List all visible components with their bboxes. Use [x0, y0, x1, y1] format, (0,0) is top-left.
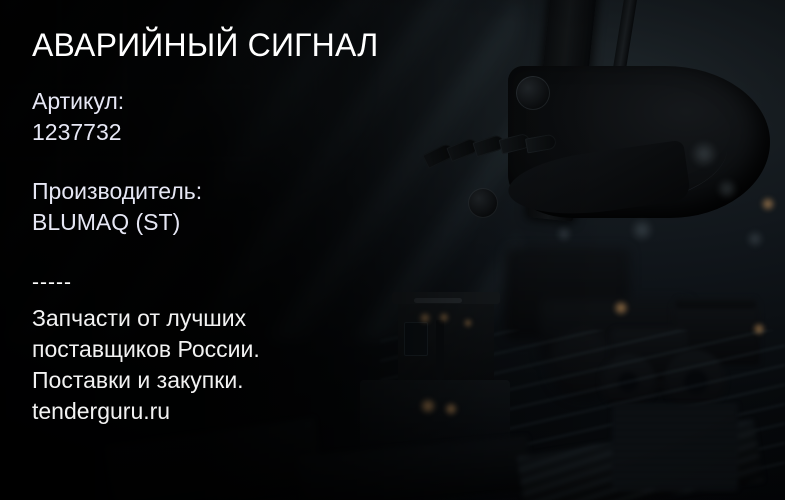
field-article-label: Артикул: [32, 86, 124, 117]
separator-dashes: ----- [32, 272, 72, 294]
field-manufacturer-label: Производитель: [32, 176, 202, 207]
promo-line-2: поставщиков России. [32, 334, 260, 365]
field-manufacturer-value: BLUMAQ (ST) [32, 207, 202, 238]
field-article-value: 1237732 [32, 117, 124, 148]
promo-blurb: Запчасти от лучших поставщиков России. П… [32, 303, 260, 427]
page-title: АВАРИЙНЫЙ СИГНАЛ [32, 26, 378, 64]
promo-line-3: Поставки и закупки. [32, 365, 260, 396]
promo-site-url: tenderguru.ru [32, 396, 260, 427]
field-article: Артикул: 1237732 [32, 86, 124, 148]
promo-line-1: Запчасти от лучших [32, 303, 260, 334]
product-banner: АВАРИЙНЫЙ СИГНАЛ Артикул: 1237732 Произв… [0, 0, 785, 500]
banner-content: АВАРИЙНЫЙ СИГНАЛ Артикул: 1237732 Произв… [32, 0, 462, 500]
field-manufacturer: Производитель: BLUMAQ (ST) [32, 176, 202, 238]
